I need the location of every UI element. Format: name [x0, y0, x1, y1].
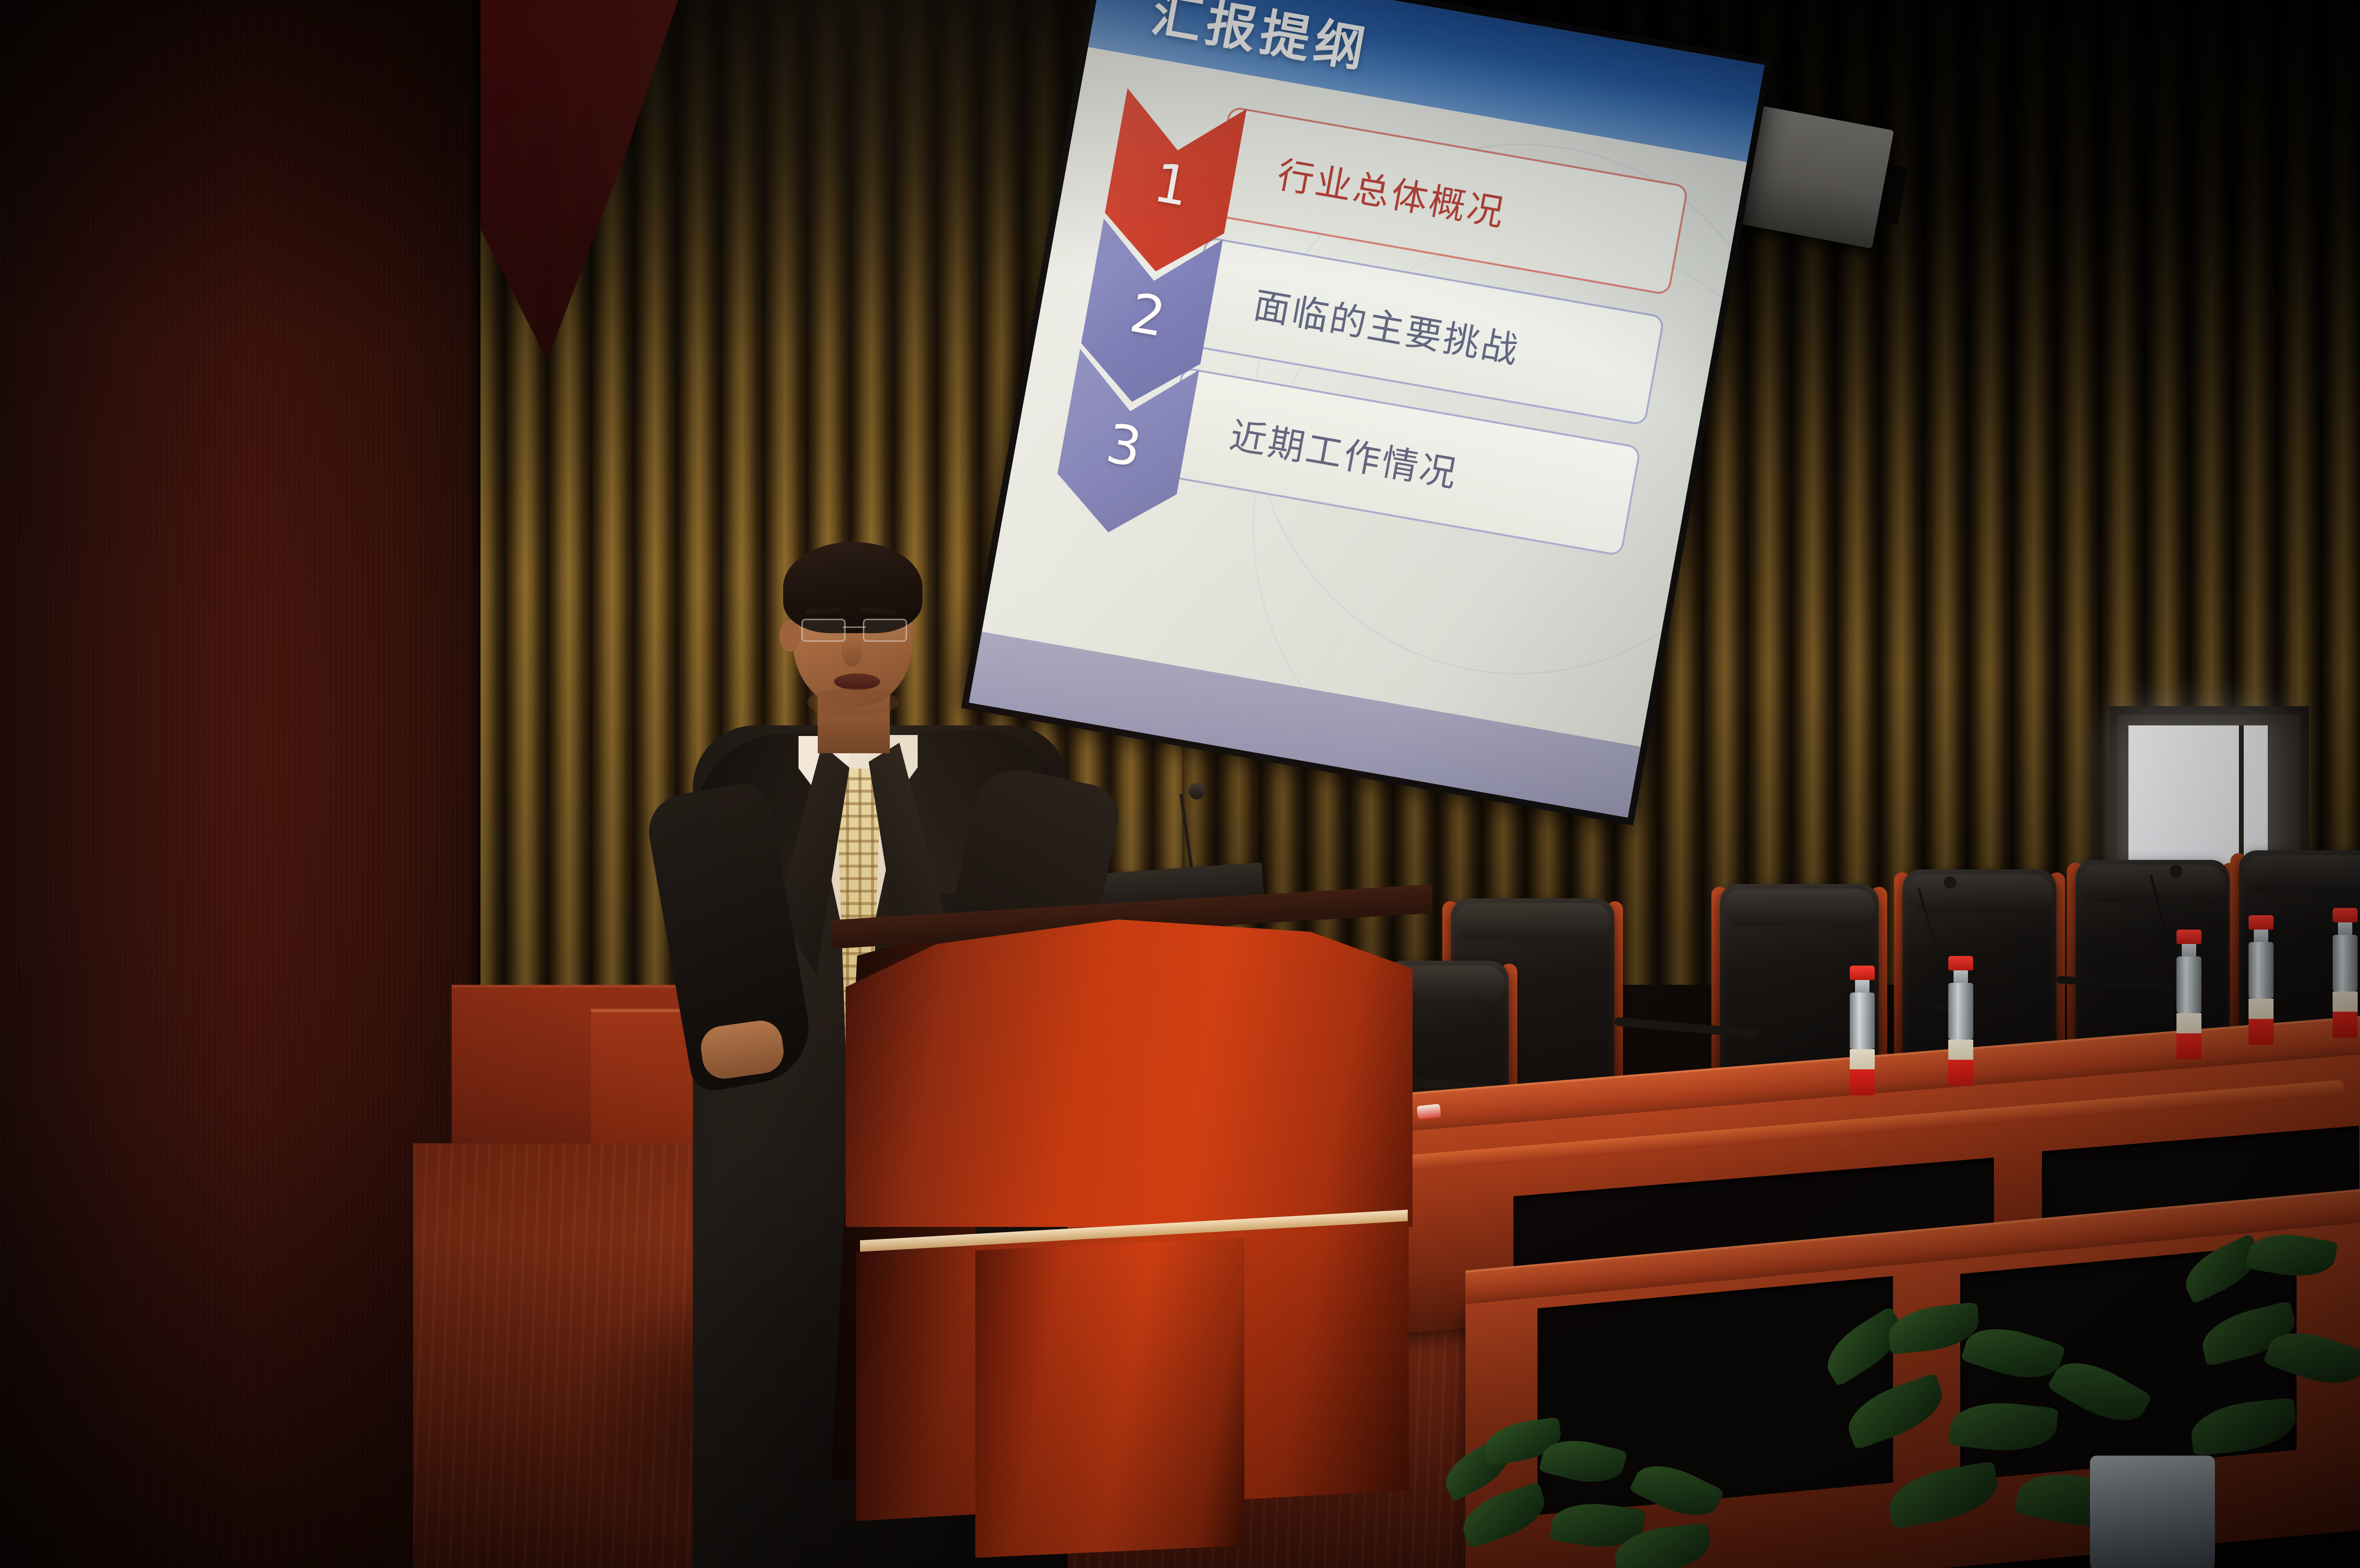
conference-hall-scene: 汇报提纲 1 行业总体概况 2 面临的主要挑战	[0, 0, 2360, 1568]
microphone-head-icon	[1189, 783, 1205, 799]
wood-wall-panel-left	[0, 0, 480, 1568]
bottle-neck	[1954, 970, 1968, 983]
plant-leaf	[1948, 1397, 2058, 1456]
microphone-head-icon	[1944, 876, 1956, 889]
chair-headrest	[1724, 889, 1875, 926]
speaker-podium	[831, 894, 1432, 1568]
glasses-bridge	[843, 626, 866, 628]
chair-headrest	[2243, 855, 2360, 893]
conference-chair[interactable]	[2076, 860, 2229, 1057]
bottle-neck	[1855, 980, 1869, 992]
bottle-neck	[2182, 944, 2196, 956]
bottle-label-brand	[1850, 1069, 1875, 1095]
bottle-body	[2249, 942, 2274, 999]
conference-chair[interactable]	[1903, 870, 2056, 1071]
wood-grain-texture	[0, 0, 480, 1568]
chair-headrest	[1455, 903, 1610, 941]
bottle-label-brand	[2249, 1019, 2274, 1045]
water-bottle[interactable]	[2176, 930, 2201, 1059]
bottle-label-brand	[2333, 1012, 2358, 1038]
presenter-chin	[807, 688, 898, 717]
presenter-mouth	[834, 674, 880, 690]
plant-leaf	[2246, 1227, 2338, 1283]
presenter-nose	[842, 637, 862, 667]
water-bottle[interactable]	[2333, 908, 2358, 1038]
bottle-label-brand	[1948, 1060, 1973, 1086]
bottle-body	[2176, 956, 2201, 1013]
bottle-neck	[2254, 930, 2268, 942]
bottle-body	[1948, 983, 1973, 1040]
plant-leaf	[1885, 1461, 2003, 1529]
bottle-label-top	[2333, 992, 2358, 1012]
agenda-label-2: 面临的主要挑战	[1250, 275, 1524, 374]
microphone-head-icon	[2170, 865, 2182, 877]
chair-headrest	[1906, 874, 2053, 912]
bottle-neck	[2338, 922, 2352, 935]
water-bottle[interactable]	[2249, 915, 2274, 1045]
bottle-cap	[2176, 930, 2201, 944]
glasses-lens-left	[801, 619, 846, 642]
water-bottle[interactable]	[1850, 966, 1875, 1095]
potted-plant	[1432, 1384, 1768, 1568]
bottle-cap	[1948, 956, 1973, 970]
podium-column	[975, 1238, 1244, 1557]
podium-front-face	[846, 919, 1413, 1227]
plant-leaf	[2047, 1348, 2152, 1435]
bottle-label-top	[1948, 1040, 1973, 1060]
bottle-cap	[1850, 966, 1875, 980]
water-bottle[interactable]	[1948, 956, 1973, 1086]
glasses-lens-right	[863, 619, 907, 642]
plant-leaf	[2188, 1397, 2299, 1456]
potted-plant	[1802, 1297, 2186, 1566]
bottle-label-top	[1850, 1049, 1875, 1069]
plant-leaf	[1840, 1372, 1951, 1450]
agenda-label-1: 行业总体概况	[1274, 145, 1511, 237]
bottle-label-top	[2249, 999, 2274, 1019]
bottle-cap	[2249, 915, 2274, 930]
bottle-label-brand	[2176, 1033, 2201, 1059]
bottle-label-top	[2176, 1013, 2201, 1033]
potted-plant	[2172, 1230, 2360, 1566]
bottle-body	[1850, 992, 1875, 1049]
agenda-label-3: 近期工作情况	[1226, 406, 1463, 498]
bottle-body	[2333, 935, 2358, 992]
bottle-cap	[2333, 908, 2358, 922]
